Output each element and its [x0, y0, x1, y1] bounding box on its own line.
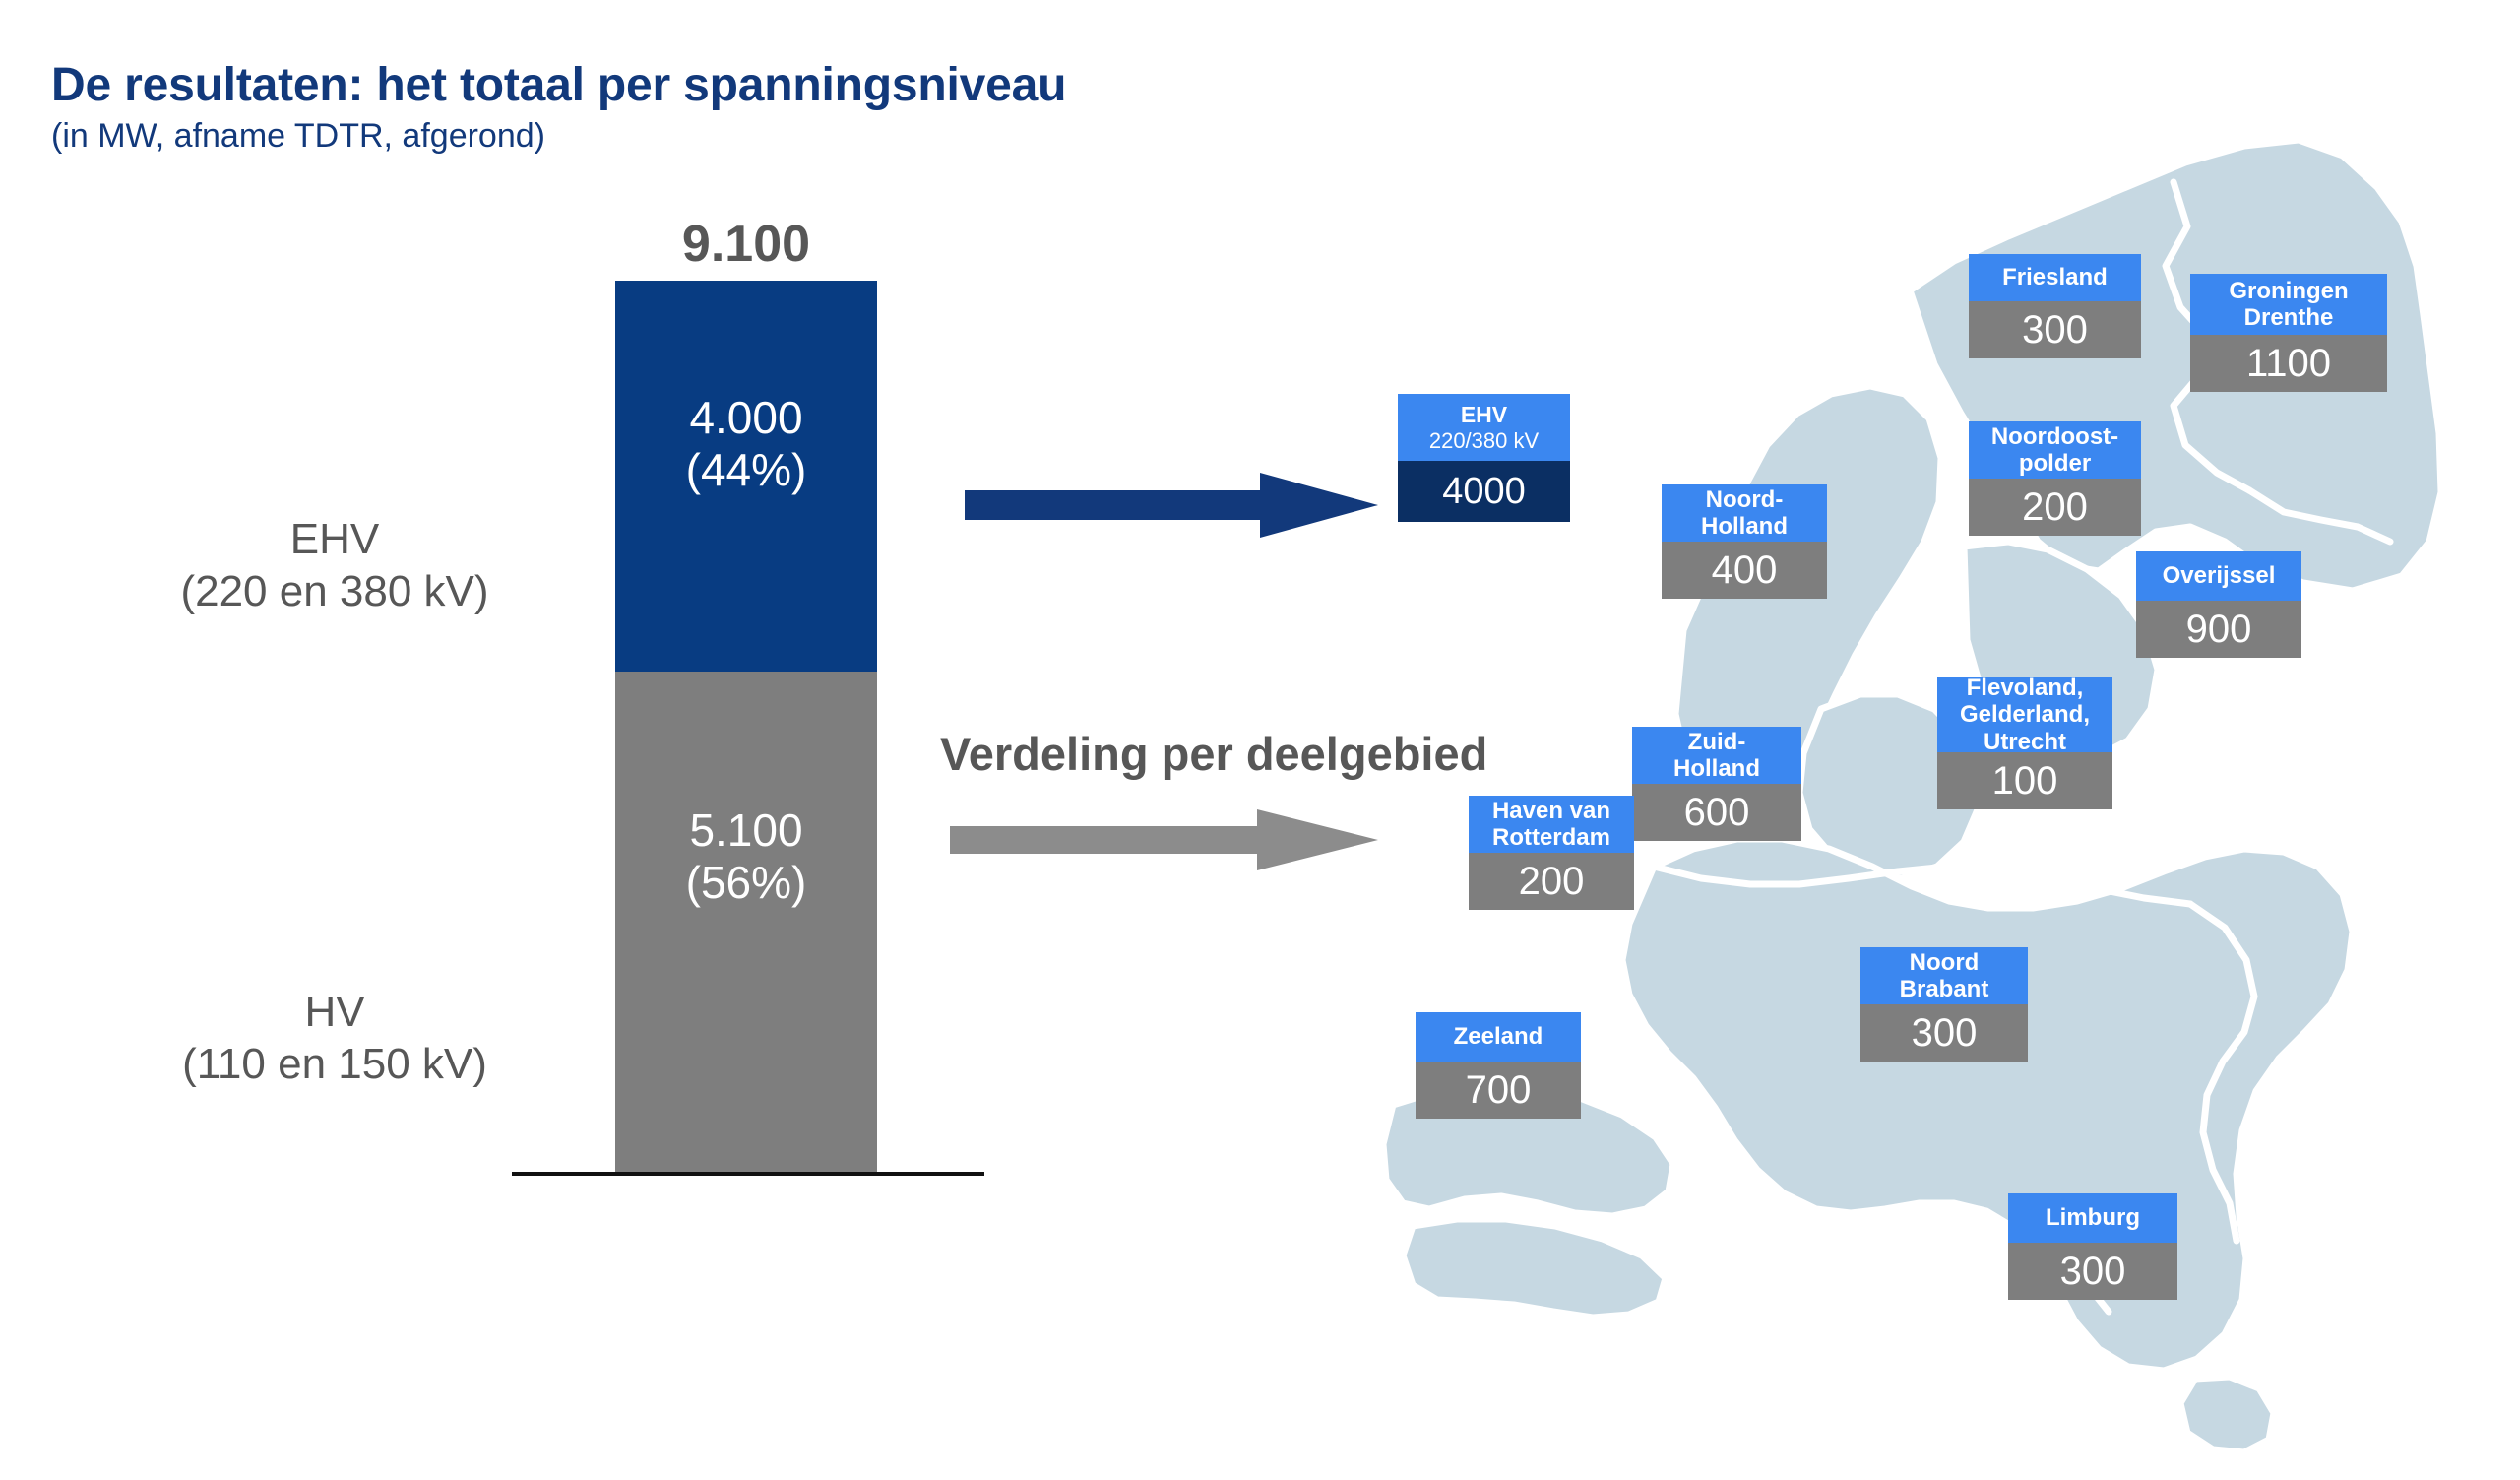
callout-rotterdam-value: 200: [1469, 853, 1634, 910]
bar-segment-hv[interactable]: 5.100 (56%): [615, 672, 877, 1174]
hv-arrow-icon: [950, 809, 1378, 870]
callout-noordoostpolder-label-2: polder: [1991, 450, 2118, 477]
callout-ehv-title: EHV: [1461, 402, 1507, 427]
callout-overijssel-head: Overijssel: [2136, 551, 2301, 601]
callout-friesland-label: Friesland: [2002, 264, 2108, 290]
callout-brabant-head: Noord Brabant: [1860, 947, 2028, 1004]
callout-ehv-head: EHV 220/380 kV: [1398, 394, 1570, 461]
callout-noordoostpolder-head: Noordoost- polder: [1969, 421, 2141, 479]
callout-zeeland-value: 700: [1416, 1062, 1581, 1119]
callout-limburg-label: Limburg: [2046, 1204, 2140, 1231]
category-label-hv-sub: (110 en 150 kV): [79, 1039, 591, 1091]
callout-noord-holland[interactable]: Noord- Holland 400: [1662, 484, 1827, 599]
bar-segment-ehv[interactable]: 4.000 (44%): [615, 281, 877, 672]
callout-zuid-holland[interactable]: Zuid- Holland 600: [1632, 727, 1801, 841]
callout-friesland-head: Friesland: [1969, 254, 2141, 301]
map-region-limburg: [2180, 1377, 2274, 1452]
callout-ehv-subtitle: 220/380 kV: [1429, 428, 1539, 453]
category-label-ehv: EHV (220 en 380 kV): [79, 514, 591, 618]
callout-overijssel-value: 900: [2136, 601, 2301, 658]
callout-zuidholland-value: 600: [1632, 784, 1801, 841]
bar-baseline: [512, 1172, 984, 1176]
callout-noordholland-value: 400: [1662, 542, 1827, 599]
callout-rotterdam-head: Haven van Rotterdam: [1469, 796, 1634, 853]
callout-flevoland-label-1: Flevoland,: [1960, 675, 2090, 701]
callout-zuidholland-label-2: Holland: [1673, 755, 1760, 782]
callout-groningen-drenthe[interactable]: Groningen Drenthe 1100: [2190, 274, 2387, 392]
callout-groningen-label-1: Groningen: [2229, 278, 2348, 304]
callout-zuidholland-label-1: Zuid-: [1673, 729, 1760, 755]
callout-flevoland-head: Flevoland, Gelderland, Utrecht: [1937, 677, 2112, 752]
bar-segment-ehv-labels: 4.000 (44%): [615, 392, 877, 496]
bar-segment-ehv-value: 4.000: [615, 392, 877, 444]
callout-noordholland-label-1: Noord-: [1701, 486, 1788, 513]
verdeling-caption: Verdeling per deelgebied: [940, 727, 1487, 781]
bar-total-label: 9.100: [615, 215, 877, 274]
callout-flevoland-label-2: Gelderland,: [1960, 701, 2090, 728]
callout-noordoostpolder-value: 200: [1969, 479, 2141, 536]
bar-segment-hv-percent: (56%): [615, 857, 877, 909]
bar-segment-hv-value: 5.100: [615, 804, 877, 857]
callout-groningen-value: 1100: [2190, 335, 2387, 392]
category-label-ehv-name: EHV: [79, 514, 591, 566]
callout-overijssel-label: Overijssel: [2163, 562, 2276, 589]
callout-ehv-value: 4000: [1398, 461, 1570, 522]
callout-brabant-label-1: Noord: [1900, 949, 1989, 976]
callout-rotterdam-label-2: Rotterdam: [1492, 824, 1610, 851]
map-border-overijssel-gelderland: [2151, 694, 2338, 721]
callout-haven-van-rotterdam[interactable]: Haven van Rotterdam 200: [1469, 796, 1634, 910]
category-label-hv-name: HV: [79, 987, 591, 1039]
ehv-arrow-icon: [965, 473, 1378, 538]
category-label-ehv-sub: (220 en 380 kV): [79, 566, 591, 618]
callout-brabant-label-2: Brabant: [1900, 976, 1989, 1002]
callout-flevoland-gelderland-utrecht[interactable]: Flevoland, Gelderland, Utrecht 100: [1937, 677, 2112, 809]
callout-limburg[interactable]: Limburg 300: [2008, 1193, 2177, 1300]
category-label-hv: HV (110 en 150 kV): [79, 987, 591, 1091]
callout-noordoostpolder[interactable]: Noordoost- polder 200: [1969, 421, 2141, 536]
callout-zuidholland-head: Zuid- Holland: [1632, 727, 1801, 784]
callout-overijssel[interactable]: Overijssel 900: [2136, 551, 2301, 658]
callout-noord-brabant[interactable]: Noord Brabant 300: [1860, 947, 2028, 1062]
map-region-zeeland-south: [1403, 1219, 1666, 1318]
callout-friesland[interactable]: Friesland 300: [1969, 254, 2141, 358]
callout-groningen-head: Groningen Drenthe: [2190, 274, 2387, 335]
callout-flevoland-label-3: Utrecht: [1960, 729, 2090, 755]
callout-zeeland-label: Zeeland: [1454, 1023, 1543, 1050]
map-region-mainland: [1622, 839, 2353, 1371]
bar-segment-hv-labels: 5.100 (56%): [615, 804, 877, 909]
callout-limburg-value: 300: [2008, 1243, 2177, 1300]
bar-stack: 4.000 (44%) 5.100 (56%): [615, 281, 877, 1174]
callout-noordoostpolder-label-1: Noordoost-: [1991, 423, 2118, 450]
callout-zeeland[interactable]: Zeeland 700: [1416, 1012, 1581, 1119]
stacked-bar-chart: 9.100 4.000 (44%) 5.100 (56%) EHV (220 e…: [0, 0, 1083, 1280]
callout-zeeland-head: Zeeland: [1416, 1012, 1581, 1062]
callout-friesland-value: 300: [1969, 301, 2141, 358]
callout-noordholland-head: Noord- Holland: [1662, 484, 1827, 542]
callout-flevoland-value: 100: [1937, 752, 2112, 809]
callout-ehv[interactable]: EHV 220/380 kV 4000: [1398, 394, 1570, 522]
callout-noordholland-label-2: Holland: [1701, 513, 1788, 540]
callout-limburg-head: Limburg: [2008, 1193, 2177, 1243]
callout-rotterdam-label-1: Haven van: [1492, 798, 1610, 824]
callout-brabant-value: 300: [1860, 1004, 2028, 1062]
bar-segment-ehv-percent: (44%): [615, 444, 877, 496]
callout-groningen-label-2: Drenthe: [2229, 304, 2348, 331]
